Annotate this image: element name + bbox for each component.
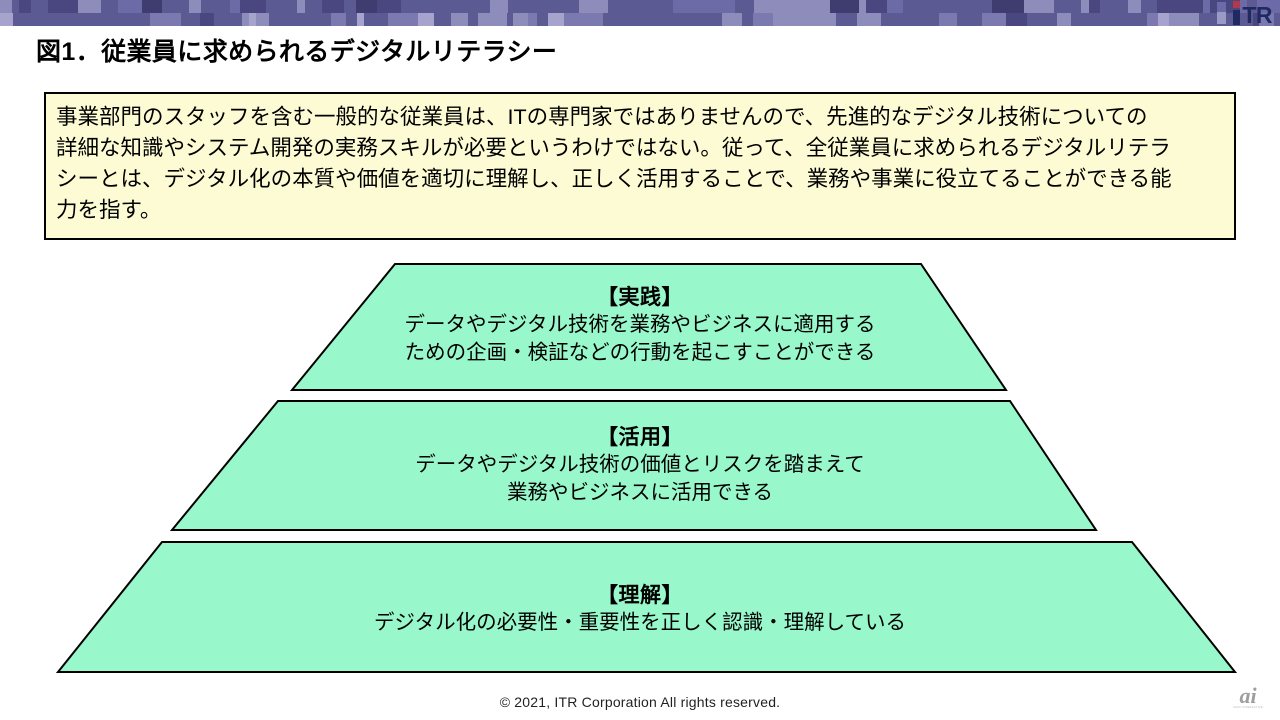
ai-glyph-icon: ai bbox=[1226, 686, 1270, 706]
mosaic-tile bbox=[1027, 13, 1057, 26]
mosaic-tile bbox=[957, 13, 982, 26]
mosaic-tile bbox=[1128, 0, 1141, 13]
mosaic-tile bbox=[1147, 13, 1158, 26]
mosaic-tile bbox=[608, 0, 638, 13]
mosaic-tile bbox=[944, 0, 962, 13]
mosaic-tile bbox=[704, 0, 735, 13]
mosaic-tile bbox=[356, 0, 377, 13]
mosaic-tile bbox=[346, 13, 357, 26]
mosaic-tile bbox=[640, 13, 663, 26]
mosaic-tile bbox=[1100, 0, 1128, 13]
mosaic-tile bbox=[82, 13, 112, 26]
mosaic-tile bbox=[305, 0, 322, 13]
mosaic-tile bbox=[162, 0, 189, 13]
mosaic-tile bbox=[401, 0, 432, 13]
mosaic-tile bbox=[508, 0, 536, 13]
pyramid-tier-bottom-line-1: デジタル化の必要性・重要性を正しく認識・理解している bbox=[0, 609, 1280, 637]
mosaic-tile bbox=[903, 0, 915, 13]
mosaic-tile bbox=[1081, 0, 1089, 13]
mosaic-tile bbox=[451, 13, 458, 26]
mosaic-pattern bbox=[0, 0, 1280, 26]
logo-swatch-icon bbox=[1217, 2, 1226, 24]
logo-i-dot-icon bbox=[1233, 1, 1240, 8]
mosaic-tile bbox=[1077, 13, 1093, 26]
mosaic-tile bbox=[603, 13, 631, 26]
mosaic-tile bbox=[112, 13, 132, 26]
mosaic-tile bbox=[478, 13, 507, 26]
mosaic-tile bbox=[1057, 13, 1071, 26]
mosaic-tile bbox=[537, 13, 548, 26]
mosaic-tile bbox=[78, 0, 101, 13]
ai-subtext: ASCII INTERACTIVE bbox=[1226, 706, 1270, 710]
mosaic-tile bbox=[915, 0, 944, 13]
mosaic-tile bbox=[646, 0, 673, 13]
mosaic-tile bbox=[242, 13, 249, 26]
mosaic-tile bbox=[468, 13, 478, 26]
mosaic-tile bbox=[548, 13, 564, 26]
mosaic-tile bbox=[1203, 0, 1210, 13]
mosaic-tile bbox=[528, 13, 537, 26]
mosaic-tile bbox=[240, 0, 266, 13]
mosaic-tile bbox=[513, 13, 528, 26]
mosaic-tile bbox=[200, 13, 214, 26]
mosaic-tile bbox=[275, 13, 287, 26]
mosaic-tile bbox=[992, 0, 999, 13]
pyramid-tier-bottom-label: 【理解】 bbox=[0, 582, 1280, 609]
mosaic-tile bbox=[418, 13, 434, 26]
mosaic-tile bbox=[563, 0, 579, 13]
slide-canvas: TR 図1．従業員に求められるデジタルリテラシー 事業部門のスタッフを含む一般的… bbox=[0, 0, 1280, 720]
mosaic-tile bbox=[783, 0, 811, 13]
mosaic-tile bbox=[142, 0, 162, 13]
mosaic-tile bbox=[982, 13, 1006, 26]
note-line-1: 事業部門のスタッフを含む一般的な従業員は、ITの専門家ではありませんので、先進的… bbox=[56, 102, 1224, 133]
mosaic-tile bbox=[118, 0, 142, 13]
mosaic-tile bbox=[887, 0, 903, 13]
mosaic-tile bbox=[48, 0, 78, 13]
pyramid-tier-bottom-text: 【理解】 デジタル化の必要性・重要性を正しく認識・理解している bbox=[0, 582, 1280, 637]
note-line-2: 詳細な知識やシステム開発の実務スキルが必要というわけではない。従って、全従業員に… bbox=[56, 133, 1224, 164]
mosaic-tile bbox=[13, 13, 34, 26]
mosaic-tile bbox=[322, 0, 344, 13]
mosaic-tile bbox=[490, 0, 508, 13]
mosaic-tile bbox=[663, 13, 693, 26]
mosaic-tile bbox=[1024, 0, 1054, 13]
mosaic-tile bbox=[344, 0, 356, 13]
mosaic-tile bbox=[999, 0, 1024, 13]
pyramid-tier-bottom: 【理解】 デジタル化の必要性・重要性を正しく認識・理解している bbox=[0, 250, 1280, 680]
mosaic-tile bbox=[811, 0, 830, 13]
mosaic-tile bbox=[795, 13, 818, 26]
mosaic-tile bbox=[1149, 0, 1157, 13]
mosaic-tile bbox=[881, 13, 911, 26]
mosaic-tile bbox=[230, 0, 240, 13]
mosaic-tile bbox=[34, 13, 56, 26]
mosaic-tile bbox=[456, 0, 479, 13]
mosaic-tile bbox=[1054, 0, 1081, 13]
mosaic-tile bbox=[631, 13, 640, 26]
mosaic-tile bbox=[19, 0, 31, 13]
mosaic-tile bbox=[773, 13, 795, 26]
mosaic-tile bbox=[841, 0, 859, 13]
logo-tr-text: TR bbox=[1242, 6, 1272, 25]
mosaic-tile bbox=[722, 13, 742, 26]
mosaic-tile bbox=[189, 0, 201, 13]
mosaic-tile bbox=[287, 13, 306, 26]
mosaic-tile bbox=[266, 0, 297, 13]
mosaic-tile bbox=[1006, 13, 1027, 26]
mosaic-tile bbox=[357, 13, 364, 26]
mosaic-tile bbox=[922, 13, 939, 26]
note-line-4: 力を指す。 bbox=[56, 195, 1224, 226]
mosaic-tile bbox=[1157, 0, 1173, 13]
mosaic-tile bbox=[830, 0, 841, 13]
mosaic-tile bbox=[0, 0, 12, 13]
itr-wordmark: TR bbox=[1233, 1, 1272, 25]
logo-i-stem-icon bbox=[1233, 10, 1240, 25]
mosaic-tile bbox=[1173, 0, 1203, 13]
mosaic-tile bbox=[132, 13, 150, 26]
mosaic-tile bbox=[377, 0, 395, 13]
mosaic-tile bbox=[331, 13, 346, 26]
literacy-pyramid: 【実践】 データやデジタル技術を業務やビジネスに適用する ための企画・検証などの… bbox=[0, 250, 1280, 680]
mosaic-tile bbox=[56, 13, 65, 26]
mosaic-tile bbox=[388, 13, 418, 26]
mosaic-tile bbox=[564, 13, 593, 26]
mosaic-tile bbox=[680, 0, 704, 13]
mosaic-tile bbox=[1093, 13, 1124, 26]
page-title: 図1．従業員に求められるデジタルリテラシー bbox=[36, 32, 557, 68]
mosaic-tile bbox=[911, 13, 922, 26]
mosaic-tile bbox=[673, 0, 680, 13]
mosaic-tile bbox=[1158, 13, 1169, 26]
mosaic-tile bbox=[249, 13, 256, 26]
mosaic-tile bbox=[536, 0, 563, 13]
mosaic-tile bbox=[693, 13, 722, 26]
mosaic-tile bbox=[1089, 0, 1100, 13]
mosaic-tile bbox=[742, 13, 753, 26]
mosaic-tile bbox=[0, 13, 13, 26]
mosaic-tile bbox=[150, 13, 181, 26]
ai-watermark-logo: ai ASCII INTERACTIVE bbox=[1226, 686, 1270, 710]
mosaic-tile bbox=[31, 0, 48, 13]
mosaic-tile bbox=[101, 0, 118, 13]
mosaic-tile bbox=[1274, 13, 1280, 26]
mosaic-tile bbox=[866, 0, 887, 13]
header-mosaic-bar bbox=[0, 0, 1280, 26]
mosaic-tile bbox=[818, 13, 836, 26]
mosaic-tile bbox=[434, 13, 451, 26]
mosaic-tile bbox=[1199, 13, 1218, 26]
mosaic-tile bbox=[214, 13, 242, 26]
mosaic-tile bbox=[297, 0, 305, 13]
mosaic-tile bbox=[364, 13, 388, 26]
mosaic-tile bbox=[735, 0, 754, 13]
mosaic-tile bbox=[638, 0, 646, 13]
itr-logo: TR bbox=[1217, 0, 1272, 26]
mosaic-tile bbox=[857, 13, 881, 26]
mosaic-tile bbox=[479, 0, 490, 13]
mosaic-tile bbox=[12, 0, 19, 13]
mosaic-tile bbox=[593, 13, 603, 26]
mosaic-tile bbox=[1169, 13, 1199, 26]
mosaic-tile bbox=[939, 13, 957, 26]
mosaic-tile bbox=[306, 13, 331, 26]
copyright-text: © 2021, ITR Corporation All rights reser… bbox=[0, 694, 1280, 710]
mosaic-tile bbox=[753, 13, 773, 26]
mosaic-tile bbox=[579, 0, 608, 13]
mosaic-tile bbox=[754, 0, 783, 13]
mosaic-tile bbox=[256, 13, 269, 26]
mosaic-tile bbox=[432, 0, 456, 13]
note-line-3: シーとは、デジタル化の本質や価値を適切に理解し、正しく活用することで、業務や事業… bbox=[56, 164, 1224, 195]
mosaic-tile bbox=[859, 0, 866, 13]
mosaic-tile bbox=[458, 13, 468, 26]
mosaic-tile bbox=[65, 13, 82, 26]
mosaic-tile bbox=[962, 0, 992, 13]
mosaic-tile bbox=[836, 13, 857, 26]
mosaic-tile bbox=[201, 0, 230, 13]
mosaic-tile bbox=[1124, 13, 1147, 26]
mosaic-tile bbox=[181, 13, 200, 26]
description-note-box: 事業部門のスタッフを含む一般的な従業員は、ITの専門家ではありませんので、先進的… bbox=[44, 92, 1236, 240]
mosaic-tile bbox=[1141, 0, 1149, 13]
